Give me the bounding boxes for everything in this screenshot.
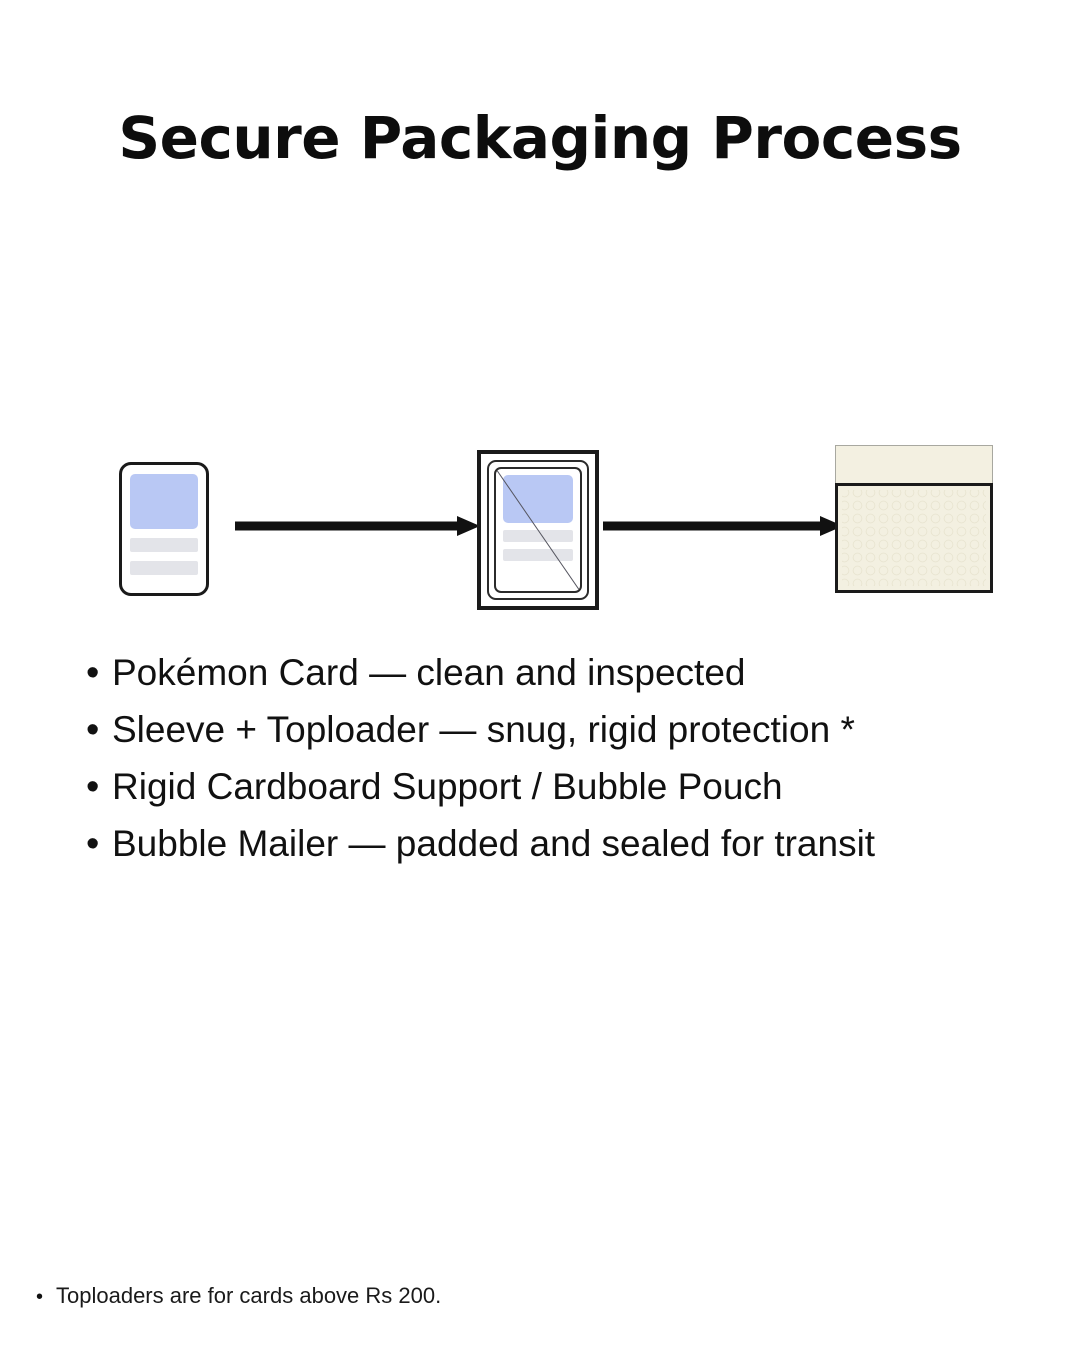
arrow-toploader-to-mailer-icon <box>603 514 843 538</box>
footnote: • Toploaders are for cards above Rs 200. <box>36 1281 441 1311</box>
page-title: Secure Packaging Process <box>0 104 1080 172</box>
footnote-bullet-marker: • <box>36 1287 56 1307</box>
list-item-label: Rigid Cardboard Support / Bubble Pouch <box>112 762 783 812</box>
list-item: • Sleeve + Toploader — snug, rigid prote… <box>86 705 1046 755</box>
list-item-label: Bubble Mailer — padded and sealed for tr… <box>112 819 875 869</box>
trading-card-icon <box>119 462 209 596</box>
sleeve-outline <box>487 460 589 600</box>
list-item: • Pokémon Card — clean and inspected <box>86 648 1046 698</box>
list-item: • Bubble Mailer — padded and sealed for … <box>86 819 1046 869</box>
card-text-line <box>503 549 573 561</box>
card-artwork-block <box>130 474 198 529</box>
list-item-label: Sleeve + Toploader — snug, rigid protect… <box>112 705 855 755</box>
sleeved-card <box>494 467 582 593</box>
list-item: • Rigid Cardboard Support / Bubble Pouch <box>86 762 1046 812</box>
packaging-steps-list: • Pokémon Card — clean and inspected • S… <box>86 648 1046 876</box>
bubble-texture-icon <box>838 486 990 590</box>
list-item-label: Pokémon Card — clean and inspected <box>112 648 745 698</box>
bullet-marker: • <box>86 825 112 863</box>
card-text-line <box>130 561 198 575</box>
card-artwork-block <box>503 475 573 523</box>
arrow-card-to-toploader-icon <box>235 514 480 538</box>
mailer-flap <box>835 445 993 483</box>
mailer-body <box>835 483 993 593</box>
bullet-marker: • <box>86 711 112 749</box>
packaging-process-diagram <box>0 420 1080 640</box>
bubble-mailer-icon <box>835 445 993 593</box>
card-text-line <box>130 538 198 552</box>
bullet-marker: • <box>86 768 112 806</box>
bullet-marker: • <box>86 654 112 692</box>
card-text-line <box>503 530 573 542</box>
footnote-label: Toploaders are for cards above Rs 200. <box>56 1281 441 1311</box>
card-in-toploader-icon <box>477 450 599 610</box>
